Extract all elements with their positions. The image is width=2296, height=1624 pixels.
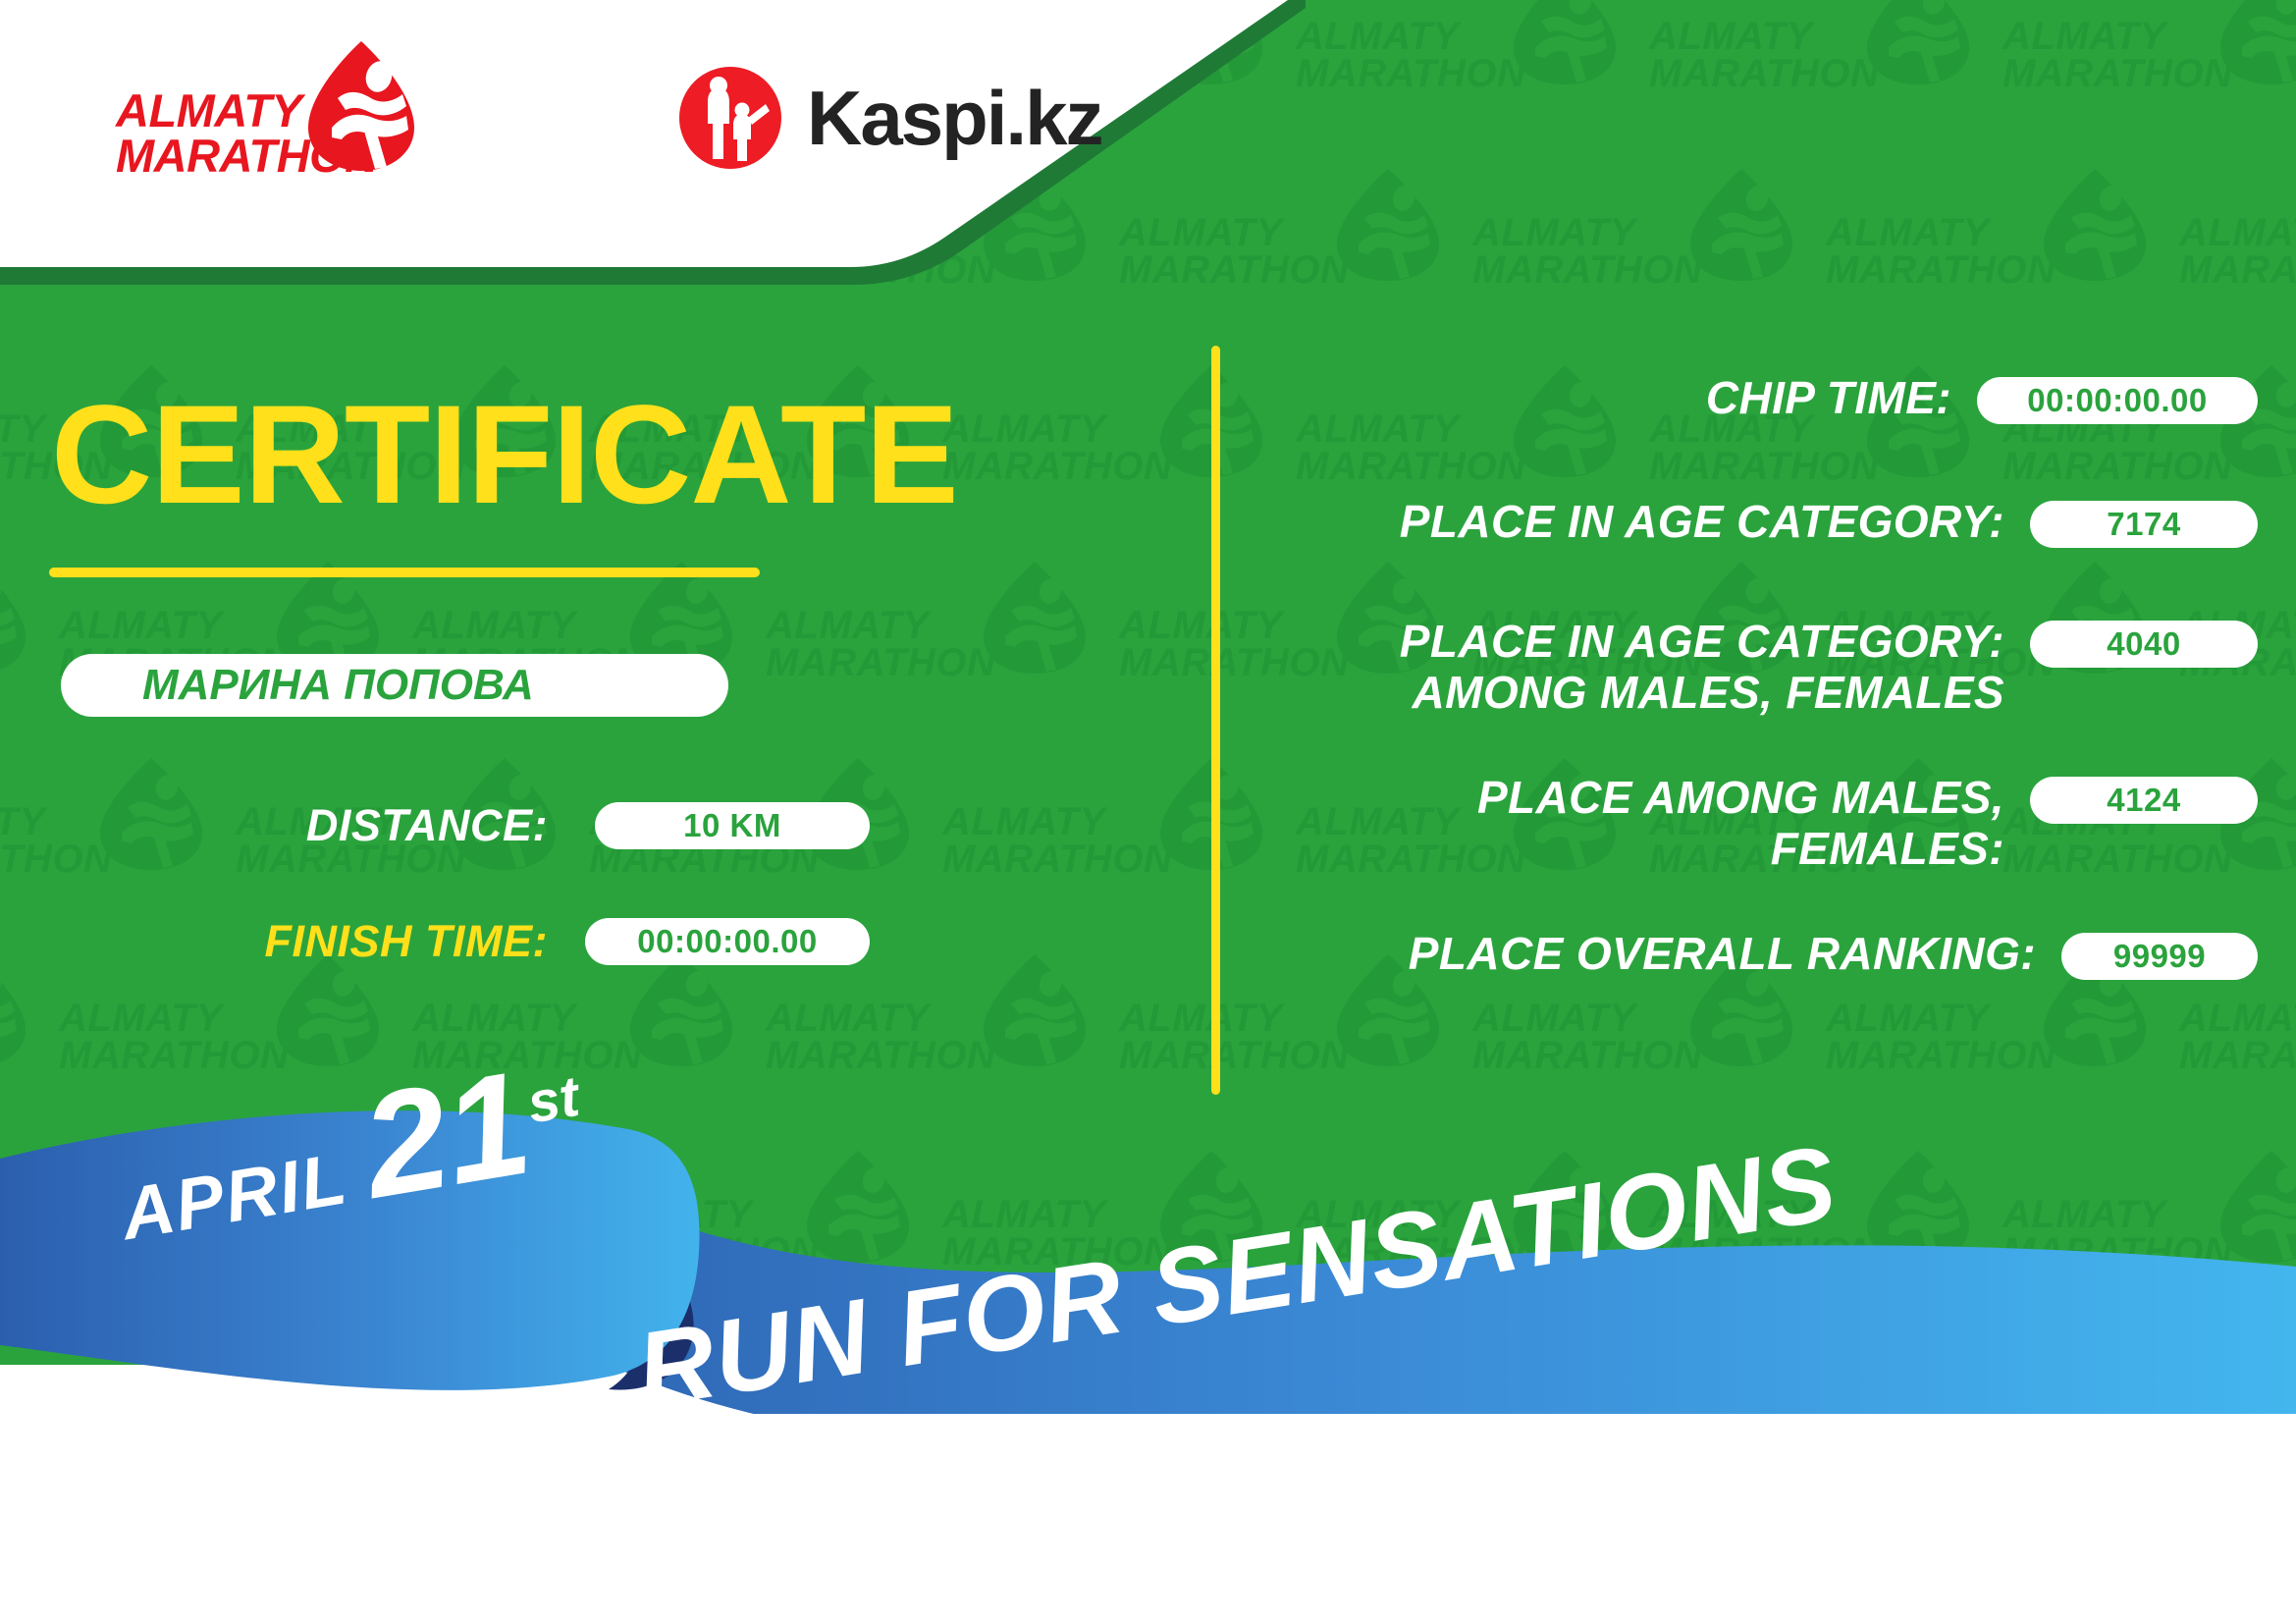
watermark-droplet-icon	[271, 950, 385, 1068]
participant-name-value: МАРИНА ПОПОВА	[142, 661, 534, 710]
watermark-text: ALMATYMARATHON	[942, 803, 1172, 878]
watermark-droplet-icon	[1861, 0, 1975, 86]
certificate-title: CERTIFICATE	[51, 385, 958, 525]
results-stats-panel: CHIP TIME: 00:00:00.00 PLACE IN AGE CATE…	[1276, 373, 2258, 1025]
almaty-marathon-logo: ALMATY MARATHON	[116, 37, 420, 199]
title-underline-rule	[49, 568, 760, 577]
watermark-text: ALMATYMARATHON	[766, 1000, 995, 1074]
kaspi-logo: Kaspi.kz	[675, 61, 1101, 174]
watermark-text: ALMATYMARATHON	[1826, 214, 2056, 289]
watermark-tile: ALMATYMARATHON	[1826, 157, 2179, 353]
watermark-droplet-icon	[2038, 165, 2152, 283]
watermark-text: ALMATYMARATHON	[766, 607, 995, 681]
stat-chip-time: CHIP TIME: 00:00:00.00	[1276, 373, 2258, 434]
watermark-text: ALMATYMARATHON	[942, 410, 1172, 485]
event-day-suffix: st	[523, 1063, 584, 1137]
place-among-line2: FEMALES:	[1771, 823, 2004, 874]
finish-time-value: 00:00:00.00	[585, 918, 870, 965]
distance-row: DISTANCE: 10 KM	[263, 800, 870, 851]
watermark-droplet-icon	[978, 950, 1092, 1068]
watermark-text: ALMATYMARATHON	[1472, 214, 1702, 289]
watermark-tile: ALMATYMARATHON	[0, 746, 236, 943]
watermark-text: ALMATYMARATHON	[59, 1000, 289, 1074]
stat-place-among-males-females: PLACE AMONG MALES, FEMALES: 4124	[1276, 773, 2258, 874]
chip-time-value: 00:00:00.00	[1977, 377, 2258, 424]
place-among-line1: PLACE AMONG MALES,	[1477, 772, 2004, 823]
watermark-text: ALMATYMARATHON	[1649, 18, 1879, 92]
watermark-text: ALMATYMARATHON	[2002, 18, 2232, 92]
place-age-category-value: 7174	[2030, 501, 2258, 548]
watermark-tile: ALMATYMARATHON	[0, 550, 59, 746]
watermark-droplet-icon	[1508, 0, 1622, 86]
distance-value: 10 KM	[595, 802, 870, 849]
watermark-tile: ALMATYMARATHON	[2179, 157, 2296, 353]
watermark-droplet-icon	[0, 558, 31, 676]
distance-label: DISTANCE:	[263, 800, 548, 851]
watermark-droplet-icon	[1331, 165, 1445, 283]
watermark-droplet-icon	[94, 754, 208, 872]
watermark-text: ALMATYMARATHON	[1296, 18, 1525, 92]
watermark-tile: ALMATYMARATHON	[1649, 0, 2002, 157]
watermark-tile: ALMATYMARATHON	[942, 353, 1296, 550]
watermark-tile: ALMATYMARATHON	[942, 746, 1296, 943]
event-month: APRIL	[115, 1136, 353, 1256]
watermark-droplet-icon	[2215, 0, 2296, 86]
watermark-droplet-icon	[1684, 165, 1798, 283]
sponsors-footer: Sulpak SANOFI Empowering Life ORIFLAME S…	[0, 1414, 2296, 1624]
participant-name-field: МАРИНА ПОПОВА	[61, 654, 728, 717]
watermark-tile: ALMATYMARATHON	[1472, 157, 1826, 353]
place-among-label: PLACE AMONG MALES, FEMALES:	[1276, 773, 2030, 874]
place-overall-label: PLACE OVERALL RANKING:	[1276, 929, 2061, 980]
kaspi-people-circle-icon	[675, 63, 785, 173]
watermark-tile: ALMATYMARATHON	[59, 550, 412, 746]
kaspi-wordmark: Kaspi.kz	[807, 80, 1101, 156]
stat-place-age-category-among: PLACE IN AGE CATEGORY: AMONG MALES, FEMA…	[1276, 617, 2258, 718]
event-day: 21	[355, 1062, 536, 1206]
certificate-canvas: ALMATYMARATHONALMATYMARATHONALMATYMARATH…	[0, 0, 2296, 1624]
watermark-text: ALMATYMARATHON	[2179, 214, 2296, 289]
place-age-category-among-label: PLACE IN AGE CATEGORY: AMONG MALES, FEMA…	[1276, 617, 2030, 718]
place-overall-value: 99999	[2061, 933, 2258, 980]
chip-time-label: CHIP TIME:	[1276, 373, 1977, 424]
watermark-tile: ALMATYMARATHON	[1296, 0, 1649, 157]
almaty-marathon-droplet-runner-icon	[302, 37, 420, 175]
place-age-category-among-line2: AMONG MALES, FEMALES	[1413, 667, 2004, 718]
watermark-tile: ALMATYMARATHON	[2002, 0, 2296, 157]
stat-place-overall-ranking: PLACE OVERALL RANKING: 99999	[1276, 929, 2258, 990]
place-age-category-label: PLACE IN AGE CATEGORY:	[1276, 497, 2030, 548]
finish-time-label: FINISH TIME:	[263, 916, 548, 967]
watermark-droplet-icon	[978, 558, 1092, 676]
place-age-category-among-line1: PLACE IN AGE CATEGORY:	[1400, 616, 2004, 667]
place-among-value: 4124	[2030, 777, 2258, 824]
watermark-tile: ALMATYMARATHON	[766, 550, 1119, 746]
watermark-droplet-icon	[0, 950, 31, 1068]
finish-time-row: FINISH TIME: 00:00:00.00	[263, 916, 870, 967]
place-age-category-among-value: 4040	[2030, 621, 2258, 668]
column-divider	[1211, 346, 1220, 1095]
stat-place-age-category: PLACE IN AGE CATEGORY: 7174	[1276, 497, 2258, 558]
watermark-tile: ALMATYMARATHON	[412, 550, 766, 746]
